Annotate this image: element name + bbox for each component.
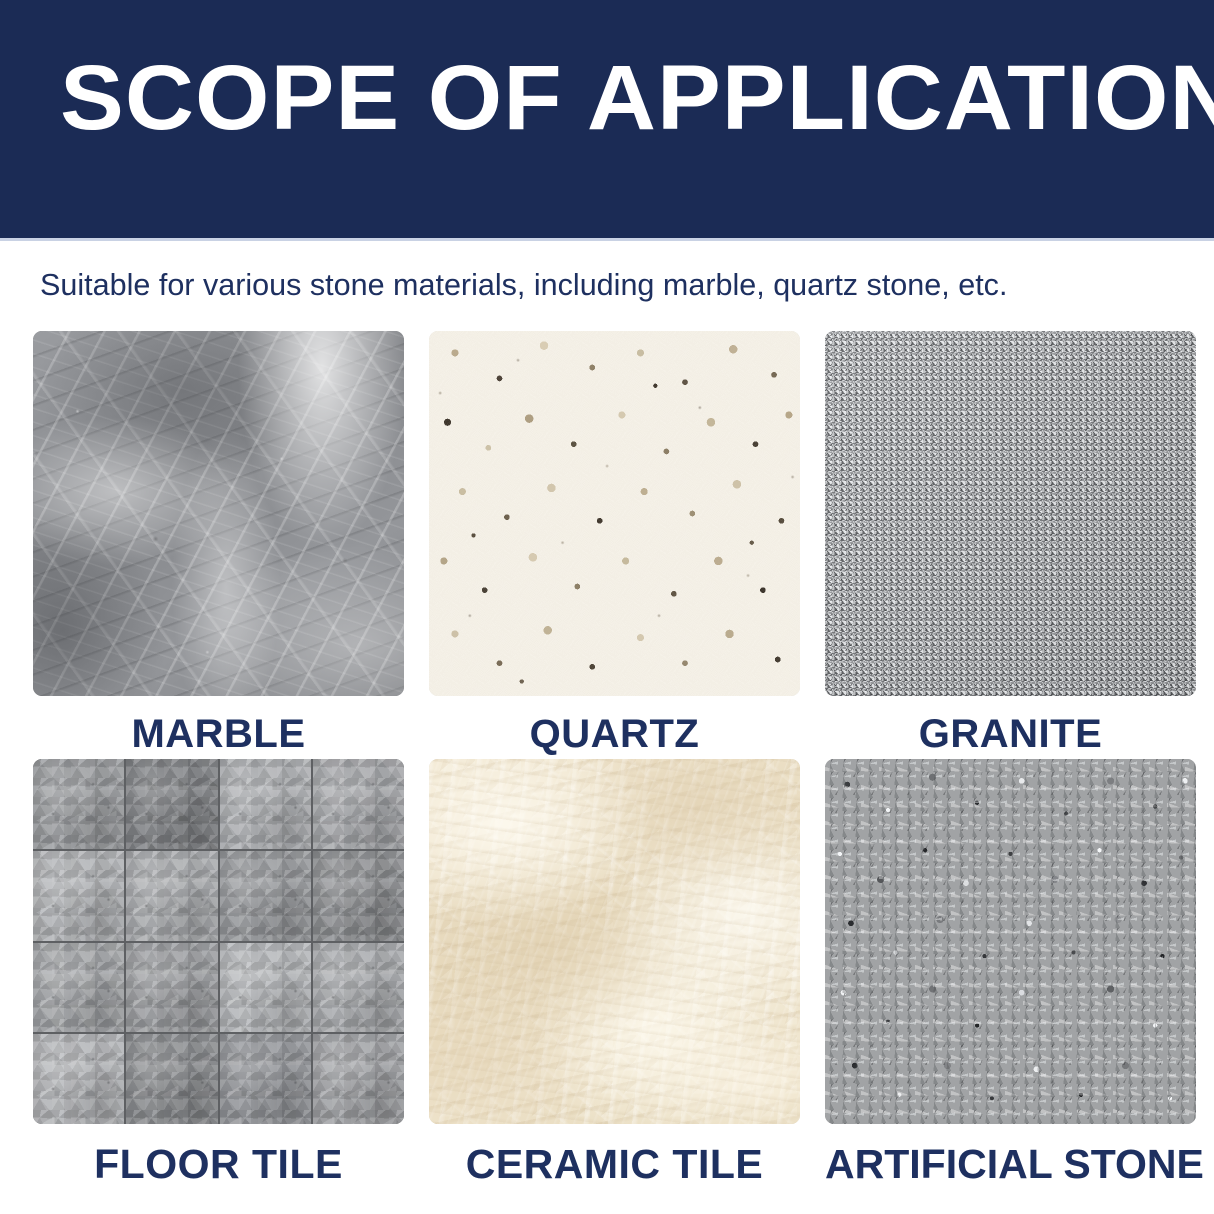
header-divider	[0, 238, 1214, 241]
material-label-quartz: QUARTZ	[429, 710, 800, 758]
material-label-granite: GRANITE	[825, 710, 1196, 758]
tile-cell	[33, 851, 124, 941]
material-card-granite: GRANITE	[825, 331, 1196, 758]
material-label-floor-tile: FLOOR TILE	[33, 1140, 404, 1188]
tile-cell	[33, 943, 124, 1033]
material-card-ceramic-tile: CERAMIC TILE	[429, 759, 800, 1188]
material-grid: MARBLE QUARTZ GRANITE	[33, 331, 1190, 1171]
swatch-marble	[33, 331, 404, 696]
granite-texture-icon	[825, 331, 1196, 696]
swatch-ceramic-tile	[429, 759, 800, 1124]
swatch-quartz	[429, 331, 800, 696]
swatch-granite	[825, 331, 1196, 696]
material-card-artificial-stone: ARTIFICIAL STONE	[825, 759, 1196, 1188]
subtitle-text: Suitable for various stone materials, in…	[40, 266, 1183, 304]
swatch-floor-tile	[33, 759, 404, 1124]
tile-cell	[126, 943, 217, 1033]
tile-cell	[220, 1034, 311, 1124]
material-card-marble: MARBLE	[33, 331, 404, 758]
swatch-artificial-stone	[825, 759, 1196, 1124]
page-title: SCOPE OF APPLICATION	[60, 46, 1214, 150]
material-label-marble: MARBLE	[33, 710, 404, 758]
tile-cell	[126, 759, 217, 849]
floor-tile-texture-icon	[33, 759, 404, 1124]
tile-cell	[313, 1034, 404, 1124]
tile-cell	[220, 759, 311, 849]
tile-cell	[220, 943, 311, 1033]
tile-cell	[220, 851, 311, 941]
tile-cell	[313, 943, 404, 1033]
tile-cell	[126, 1034, 217, 1124]
artificial-stone-texture-icon	[825, 759, 1196, 1124]
quartz-texture-icon	[429, 331, 800, 696]
header-banner: SCOPE OF APPLICATION	[0, 0, 1214, 238]
tile-grid	[33, 759, 404, 1124]
material-card-quartz: QUARTZ	[429, 331, 800, 758]
marble-texture-icon	[33, 331, 404, 696]
tile-cell	[126, 851, 217, 941]
material-card-floor-tile: FLOOR TILE	[33, 759, 404, 1188]
tile-cell	[33, 1034, 124, 1124]
tile-cell	[33, 759, 124, 849]
tile-cell	[313, 851, 404, 941]
ceramic-tile-texture-icon	[429, 759, 800, 1124]
material-label-ceramic-tile: CERAMIC TILE	[429, 1140, 800, 1188]
material-label-artificial-stone: ARTIFICIAL STONE	[825, 1140, 1196, 1188]
tile-cell	[313, 759, 404, 849]
